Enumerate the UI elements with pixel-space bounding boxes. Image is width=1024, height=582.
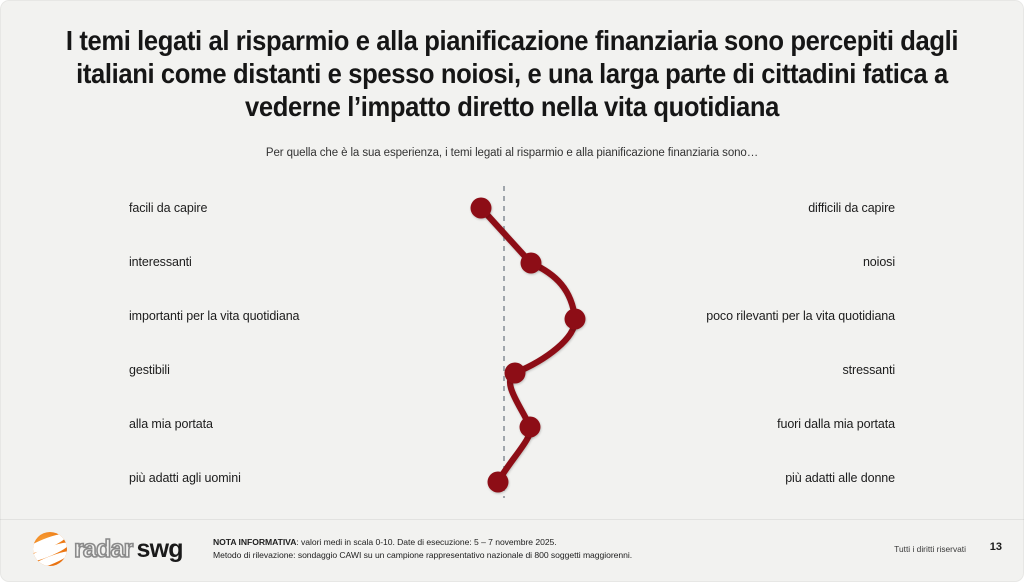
logo-wordmark: radarswg <box>74 536 183 562</box>
rights-reserved-text: Tutti i diritti riservati <box>894 544 966 554</box>
data-point-3[interactable] <box>505 363 526 384</box>
informative-note: NOTA INFORMATIVA: valori medi in scala 0… <box>213 536 632 561</box>
note-line-1-text: : valori medi in scala 0-10. Date di ese… <box>296 537 556 547</box>
value-line <box>481 208 575 482</box>
data-point-2[interactable] <box>565 309 586 330</box>
logo-swg-text: swg <box>137 535 183 563</box>
chart-plot-area <box>0 178 1024 508</box>
data-point-4[interactable] <box>520 417 541 438</box>
note-line-2: Metodo di rilevazione: sondaggio CAWI su… <box>213 549 632 562</box>
data-point-5[interactable] <box>488 472 509 493</box>
radar-sphere-icon <box>33 532 67 566</box>
note-line-1: NOTA INFORMATIVA: valori medi in scala 0… <box>213 536 632 549</box>
data-point-1[interactable] <box>521 253 542 274</box>
page-number: 13 <box>990 541 1002 553</box>
logo-radar-text: radar <box>74 535 133 563</box>
chart-question-subtitle: Per quella che è la sua esperienza, i te… <box>0 147 1024 159</box>
note-label: NOTA INFORMATIVA <box>213 537 296 547</box>
slide-footer: radarswg NOTA INFORMATIVA: valori medi i… <box>0 519 1024 582</box>
slide-canvas: I temi legati al risparmio e alla pianif… <box>0 0 1024 582</box>
semantic-differential-chart: facili da capire difficili da capire int… <box>0 178 1024 508</box>
value-markers <box>471 198 586 493</box>
data-point-0[interactable] <box>471 198 492 219</box>
page-title: I temi legati al risparmio e alla pianif… <box>36 24 988 123</box>
radar-swg-logo: radarswg <box>33 532 183 566</box>
